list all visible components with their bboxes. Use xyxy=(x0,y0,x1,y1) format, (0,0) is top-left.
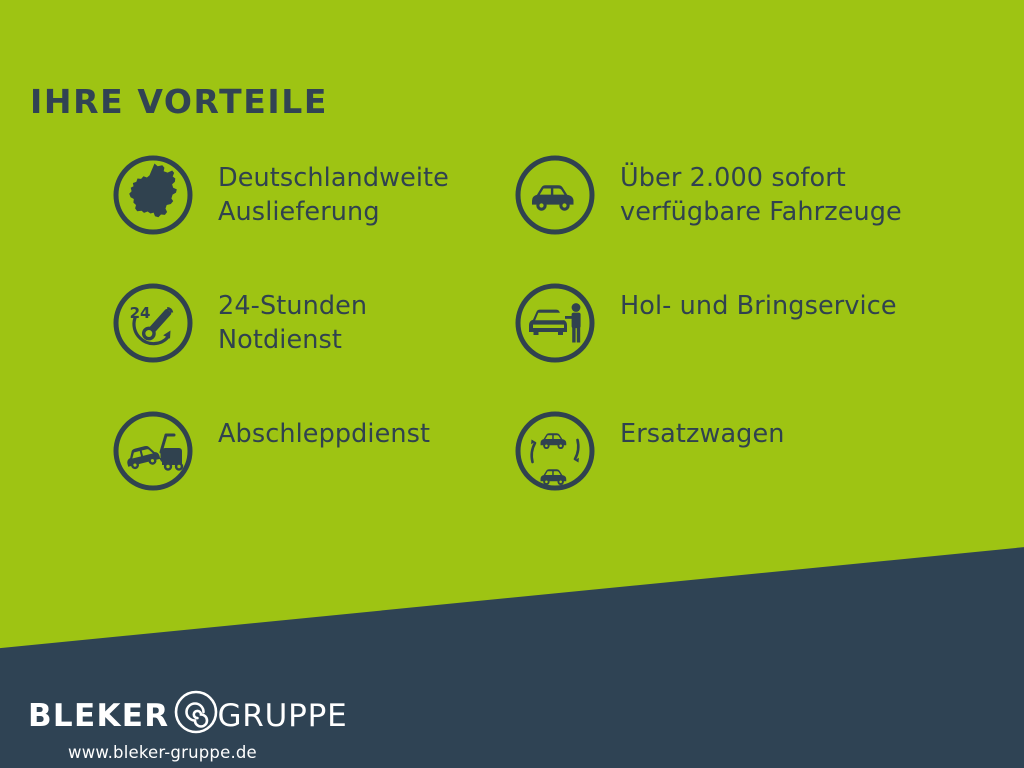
features-column-left: Deutschlandweite Auslieferung 24 xyxy=(110,152,510,536)
features-column-right: Über 2.000 sofort verfügbare Fahrzeuge xyxy=(512,152,982,536)
feature-label: 24-Stunden Notdienst xyxy=(218,290,367,358)
feature-label: Hol- und Bringservice xyxy=(620,290,897,324)
feature-item-abschleppdienst[interactable]: Abschleppdienst xyxy=(110,408,510,536)
footer-url[interactable]: www.bleker-gruppe.de xyxy=(68,743,448,762)
tow-truck-icon xyxy=(110,408,196,494)
svg-text:24: 24 xyxy=(130,304,151,322)
feature-item-ersatzwagen[interactable]: Ersatzwagen xyxy=(512,408,982,536)
feature-label: Über 2.000 sofort verfügbare Fahrzeuge xyxy=(620,162,902,230)
germany-map-icon xyxy=(110,152,196,238)
footer-logo[interactable]: BLEKER GRUPPE www.bleker-gruppe.de xyxy=(28,694,448,766)
feature-item-24-stunden-notdienst[interactable]: 24 24-Stunden Notdienst xyxy=(110,280,510,408)
logo-wordmark-row: BLEKER GRUPPE xyxy=(28,694,448,738)
slide-root: IHRE VORTEILE Deutschlandweite Ausliefer… xyxy=(0,0,1024,768)
feature-item-deutschlandweite-auslieferung[interactable]: Deutschlandweite Auslieferung xyxy=(110,152,510,280)
logo-secondary-text: GRUPPE xyxy=(217,701,347,732)
two-cars-exchange-icon xyxy=(512,408,598,494)
feature-label: Abschleppdienst xyxy=(218,418,430,452)
feature-item-verfuegbare-fahrzeuge[interactable]: Über 2.000 sofort verfügbare Fahrzeuge xyxy=(512,152,982,280)
logo-primary-text: BLEKER xyxy=(28,701,169,732)
car-side-icon xyxy=(512,152,598,238)
feature-label: Ersatzwagen xyxy=(620,418,785,452)
feature-label: Deutschlandweite Auslieferung xyxy=(218,162,449,230)
car-with-driver-icon xyxy=(512,280,598,366)
page-title: IHRE VORTEILE xyxy=(30,84,328,120)
feature-item-hol-und-bringservice[interactable]: Hol- und Bringservice xyxy=(512,280,982,408)
spiral-circle-icon xyxy=(173,689,219,735)
24-hour-wrench-icon: 24 xyxy=(110,280,196,366)
